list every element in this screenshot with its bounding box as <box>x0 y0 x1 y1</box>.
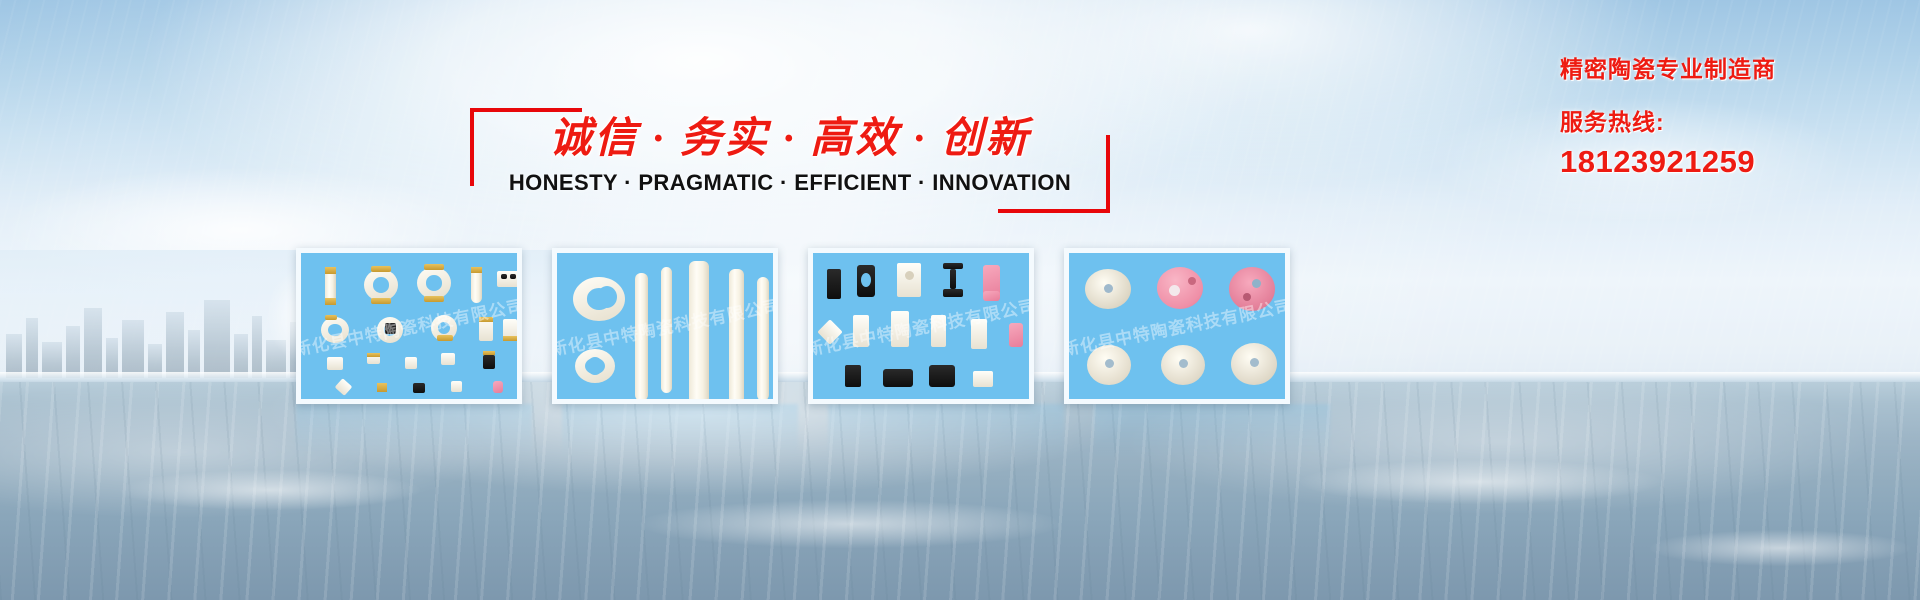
product-gallery: 新化县中特陶瓷科技有限公司 新化县中特陶瓷科技有限公司 <box>296 248 1524 404</box>
company-tagline: 精密陶瓷专业制造商 <box>1560 50 1900 84</box>
hero-banner: 诚信 · 务实 · 高效 · 创新 HONESTY · PRAGMATIC · … <box>0 0 1920 600</box>
contact-block: 精密陶瓷专业制造商 服务热线: 18123921259 <box>1560 50 1900 180</box>
puddle <box>120 470 420 510</box>
bracket-bottom-right-horizontal <box>998 209 1110 213</box>
panel-3-watermark: 新化县中特陶瓷科技有限公司 <box>808 291 1034 362</box>
panel-1-artwork: 新化县中特陶瓷科技有限公司 <box>301 253 517 399</box>
hotline-label: 服务热线: <box>1560 103 1900 137</box>
slogan-english: HONESTY · PRAGMATIC · EFFICIENT · INNOVA… <box>470 170 1110 196</box>
panel-4-artwork: 新化县中特陶瓷科技有限公司 <box>1069 253 1285 399</box>
slogan-block: 诚信 · 务实 · 高效 · 创新 HONESTY · PRAGMATIC · … <box>470 108 1110 213</box>
panel-3-artwork: 新化县中特陶瓷科技有限公司 <box>813 253 1029 399</box>
slogan-chinese: 诚信 · 务实 · 高效 · 创新 <box>470 104 1110 165</box>
puddle <box>1650 530 1910 566</box>
product-panel-3[interactable]: 新化县中特陶瓷科技有限公司 <box>808 248 1034 404</box>
product-panel-2[interactable]: 新化县中特陶瓷科技有限公司 <box>552 248 778 404</box>
panel-2-artwork: 新化县中特陶瓷科技有限公司 <box>557 253 773 399</box>
product-panel-1[interactable]: 新化县中特陶瓷科技有限公司 <box>296 248 522 404</box>
puddle <box>640 500 1060 548</box>
puddle <box>1300 460 1660 504</box>
hotline-number[interactable]: 18123921259 <box>1560 144 1900 180</box>
product-panel-4[interactable]: 新化县中特陶瓷科技有限公司 <box>1064 248 1290 404</box>
